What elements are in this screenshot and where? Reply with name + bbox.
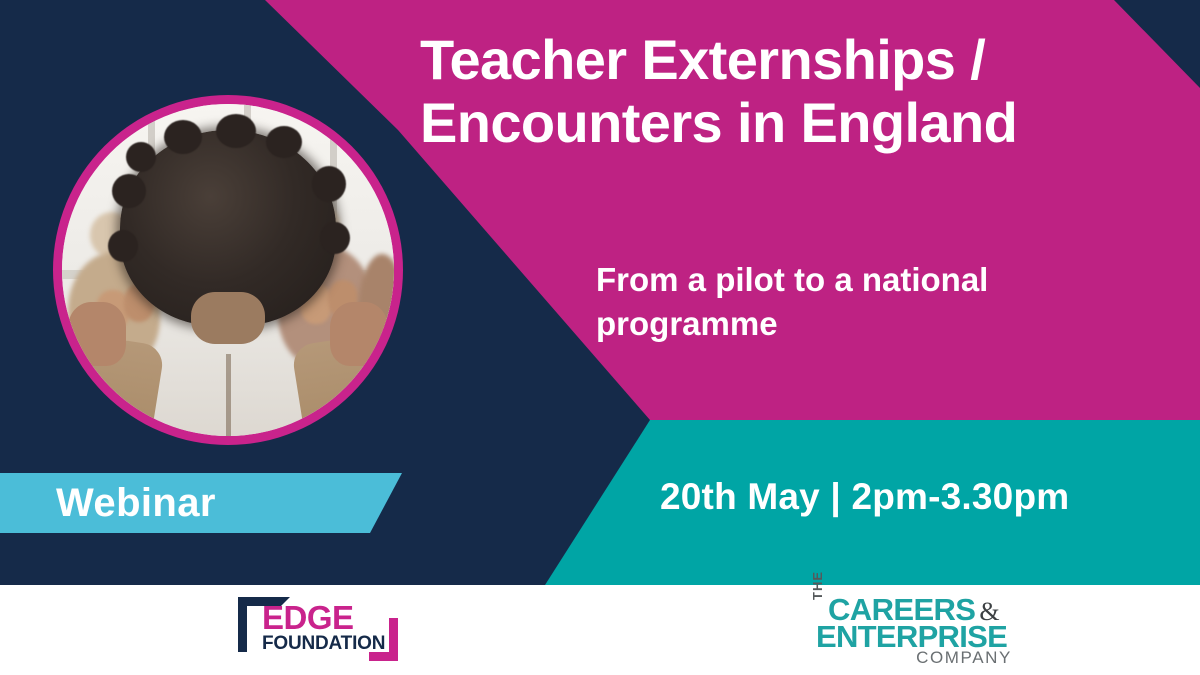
- edge-bracket-bottom-right-icon: [369, 618, 398, 661]
- headline-line-1: Teacher Externships /: [420, 28, 985, 91]
- edge-foundation-logo: EDGE FOUNDATION: [238, 595, 398, 661]
- subheadline: From a pilot to a national programme: [596, 258, 1116, 345]
- edge-logo-wordmark: EDGE: [262, 599, 354, 637]
- logo-footer: [0, 585, 1200, 675]
- event-datetime: 20th May | 2pm-3.30pm: [660, 476, 1180, 518]
- cec-logo-the: THE: [810, 571, 825, 600]
- webinar-badge-label: Webinar: [56, 481, 216, 526]
- headline-line-2: Encounters in England: [420, 91, 1160, 154]
- speaker-blouse-fold: [226, 354, 231, 436]
- headline: Teacher Externships / Encounters in Engl…: [420, 28, 1160, 155]
- cec-logo-company: COMPANY: [916, 648, 1012, 668]
- webinar-promo-poster: Teacher Externships / Encounters in Engl…: [0, 0, 1200, 675]
- edge-logo-subtext: FOUNDATION: [262, 633, 385, 655]
- webinar-badge: Webinar: [0, 473, 402, 533]
- careers-enterprise-company-logo: THE CAREERS & ENTERPRISE COMPANY: [812, 592, 1012, 664]
- speaker-photo: [62, 104, 394, 436]
